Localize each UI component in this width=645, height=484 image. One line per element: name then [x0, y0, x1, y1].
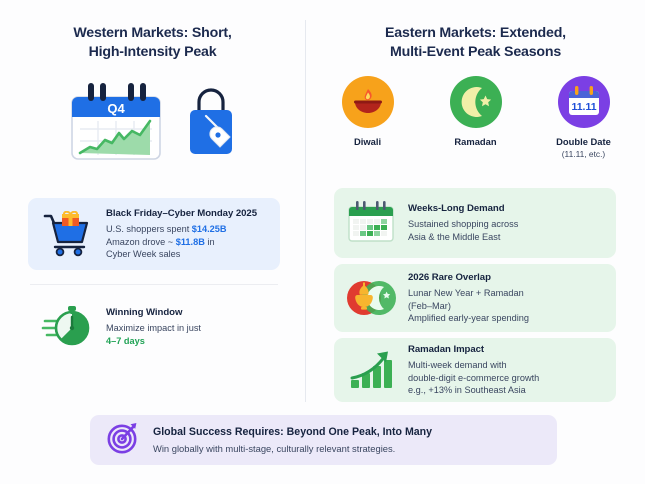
diwali-diya-lamp-icon — [342, 76, 394, 128]
eastern-markets-column: Eastern Markets: Extended, Multi-Event P… — [306, 0, 645, 410]
western-title-line-2: High-Intensity Peak — [30, 43, 275, 62]
black-friday-card-body: Black Friday–Cyber Monday 2025 U.S. shop… — [106, 207, 270, 261]
black-friday-card-heading: Black Friday–Cyber Monday 2025 — [106, 207, 270, 220]
growth-bar-chart-arrow-icon — [342, 347, 400, 393]
weeks-long-demand-body: Weeks-Long Demand Sustained shopping acr… — [408, 202, 608, 243]
global-success-banner-body: Global Success Requires: Beyond One Peak… — [153, 425, 432, 455]
stopwatch-speed-icon — [38, 303, 96, 351]
infographic-canvas: Western Markets: Short, High-Intensity P… — [0, 0, 645, 484]
western-title-line-1: Western Markets: Short, — [30, 24, 275, 43]
winning-window-highlight: 4–7 days — [106, 335, 270, 348]
weeks-long-demand-heading: Weeks-Long Demand — [408, 202, 608, 215]
left-card-separator — [30, 284, 278, 285]
bf-line2-suffix: in — [205, 237, 215, 247]
event-ramadan-label: Ramadan — [435, 136, 517, 148]
event-double-date-label: Double Date — [543, 136, 625, 148]
weeks-long-demand-card: Weeks-Long Demand Sustained shopping acr… — [334, 188, 616, 258]
ramadan-impact-line-1: Multi-week demand with — [408, 359, 608, 372]
global-success-subheading: Win globally with multi-stage, culturall… — [153, 442, 432, 455]
eastern-column-title: Eastern Markets: Extended, Multi-Event P… — [332, 24, 619, 62]
black-friday-card-line-2: Amazon drove ~ $11.8B in — [106, 236, 270, 249]
event-double-date-sub: (11.11, etc.) — [543, 148, 625, 160]
winning-window-heading: Winning Window — [106, 306, 270, 319]
bf-line2-text: Amazon drove ~ — [106, 237, 176, 247]
global-success-heading: Global Success Requires: Beyond One Peak… — [153, 425, 432, 439]
weeks-long-demand-line-1: Sustained shopping across — [408, 218, 608, 231]
weeks-long-demand-line-2: Asia & the Middle East — [408, 231, 608, 244]
ramadan-crescent-star-icon — [450, 76, 502, 128]
svg-text:Q4: Q4 — [107, 101, 125, 116]
rare-overlap-line-1: Lunar New Year + Ramadan — [408, 287, 608, 300]
western-hero-illustration: Q4 — [0, 76, 305, 168]
rare-overlap-body: 2026 Rare Overlap Lunar New Year + Ramad… — [408, 271, 608, 325]
shopping-cart-gift-icon — [38, 211, 96, 257]
double-date-calendar-icon: 11.11 — [558, 76, 610, 128]
rare-overlap-card: 2026 Rare Overlap Lunar New Year + Ramad… — [334, 264, 616, 332]
event-diwali-label: Diwali — [327, 136, 409, 148]
q4-calendar-trend-icon: Q4 — [66, 77, 166, 168]
double-date-calendar-text: 11.11 — [571, 101, 596, 113]
winning-window-card-body: Winning Window Maximize impact in just 4… — [106, 306, 270, 347]
eastern-event-icon-row: Diwali Ramadan — [306, 76, 645, 160]
event-double-date: 11.11 Double Date (11.11, etc.) — [543, 76, 625, 160]
ramadan-impact-line-3: e.g., +13% in Southeast Asia — [408, 384, 608, 397]
ramadan-impact-card: Ramadan Impact Multi-week demand with do… — [334, 338, 616, 402]
western-markets-column: Western Markets: Short, High-Intensity P… — [0, 0, 305, 410]
shopping-bag-tag-icon — [182, 80, 240, 165]
bf-line1-text: U.S. shoppers spent — [106, 224, 192, 234]
rare-overlap-line-3: Amplified early-year spending — [408, 312, 608, 325]
eastern-title-line-1: Eastern Markets: Extended, — [332, 24, 619, 43]
black-friday-card-line-3: Cyber Week sales — [106, 248, 270, 261]
eastern-title-line-2: Multi-Event Peak Seasons — [332, 43, 619, 62]
rare-overlap-line-2: (Feb–Mar) — [408, 300, 608, 313]
event-diwali: Diwali — [327, 76, 409, 160]
global-success-banner: Global Success Requires: Beyond One Peak… — [90, 415, 557, 465]
bf-line2-amount: $11.8B — [176, 237, 205, 247]
winning-window-line-1: Maximize impact in just — [106, 322, 270, 335]
western-column-title: Western Markets: Short, High-Intensity P… — [30, 24, 275, 62]
event-ramadan: Ramadan — [435, 76, 517, 160]
venn-overlap-lantern-crescent-icon — [342, 274, 400, 322]
ramadan-impact-line-2: double-digit e-commerce growth — [408, 372, 608, 385]
black-friday-card-line-1: U.S. shoppers spent $14.25B — [106, 223, 270, 236]
target-dart-bullseye-icon — [106, 421, 140, 460]
black-friday-cyber-monday-card: Black Friday–Cyber Monday 2025 U.S. shop… — [28, 198, 280, 270]
ramadan-impact-body: Ramadan Impact Multi-week demand with do… — [408, 343, 608, 397]
ramadan-impact-heading: Ramadan Impact — [408, 343, 608, 356]
rare-overlap-heading: 2026 Rare Overlap — [408, 271, 608, 284]
winning-window-card: Winning Window Maximize impact in just 4… — [28, 296, 280, 358]
bf-line1-amount: $14.25B — [192, 224, 227, 234]
green-calendar-heatmap-icon — [342, 197, 400, 249]
